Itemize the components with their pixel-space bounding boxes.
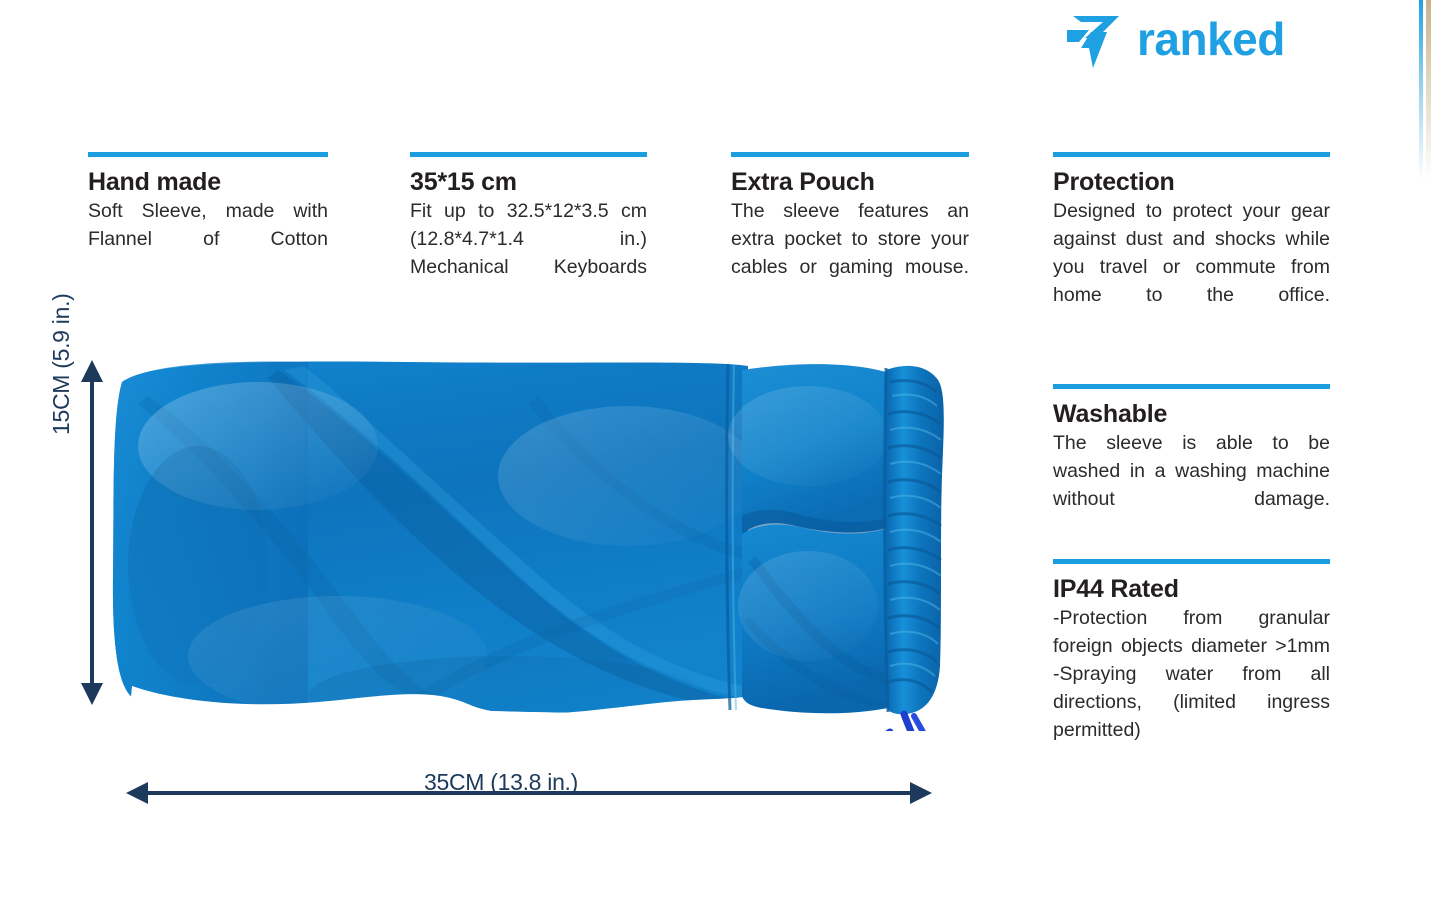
accent-rule: [88, 152, 328, 157]
feature-title: 35*15 cm: [410, 168, 647, 196]
accent-rule: [410, 152, 647, 157]
feature-title: Protection: [1053, 168, 1330, 196]
drawstring-cord: [842, 714, 933, 731]
flap-sheen: [728, 386, 888, 486]
pocket-sheen: [738, 551, 878, 661]
feature-protection: Protection Designed to protect your gear…: [1053, 152, 1330, 337]
product-infographic-page: ranked Hand made Soft Sleeve, made with …: [0, 0, 1450, 897]
brand-logo: ranked: [1063, 8, 1285, 70]
feature-body: The sleeve is able to be washed in a was…: [1053, 430, 1330, 542]
feature-title: Washable: [1053, 400, 1330, 428]
edge-stripe-blue: [1419, 0, 1423, 180]
feature-body: Soft Sleeve, made with Flannel of Cotton: [88, 198, 328, 282]
sheen-top-right: [498, 406, 758, 546]
brand-name: ranked: [1137, 16, 1285, 62]
accent-rule: [1053, 384, 1330, 389]
vertical-double-arrow-icon: [80, 360, 104, 705]
feature-hand-made: Hand made Soft Sleeve, made with Flannel…: [88, 152, 328, 282]
accent-rule: [1053, 559, 1330, 564]
feature-title: Extra Pouch: [731, 168, 969, 196]
feature-body: Designed to protect your gear against du…: [1053, 198, 1330, 337]
sleeve-illustration: [108, 356, 944, 731]
feature-body: The sleeve features an extra pocket to s…: [731, 198, 969, 310]
feature-title: Hand made: [88, 168, 328, 196]
height-dimension-arrow: [80, 360, 104, 705]
shadow-left-edge: [128, 446, 268, 686]
feature-washable: Washable The sleeve is able to be washed…: [1053, 384, 1330, 542]
accent-rule: [1053, 152, 1330, 157]
feature-extra-pouch: Extra Pouch The sleeve features an extra…: [731, 152, 969, 310]
feature-body: -Protection from granular foreign object…: [1053, 605, 1330, 772]
accent-rule: [731, 152, 969, 157]
feature-ip44-rated: IP44 Rated -Protection from granular for…: [1053, 559, 1330, 772]
ranked-r-logo-icon: [1063, 8, 1125, 70]
feature-size: 35*15 cm Fit up to 32.5*12*3.5 cm (12.8*…: [410, 152, 647, 310]
product-image: [108, 356, 944, 731]
width-dimension-label: 35CM (13.8 in.): [424, 769, 578, 796]
feature-body: Fit up to 32.5*12*3.5 cm (12.8*4.7*1.4 i…: [410, 198, 647, 310]
height-dimension-label: 15CM (5.9 in.): [48, 293, 75, 435]
edge-stripe-tan: [1426, 0, 1431, 180]
feature-title: IP44 Rated: [1053, 575, 1330, 603]
